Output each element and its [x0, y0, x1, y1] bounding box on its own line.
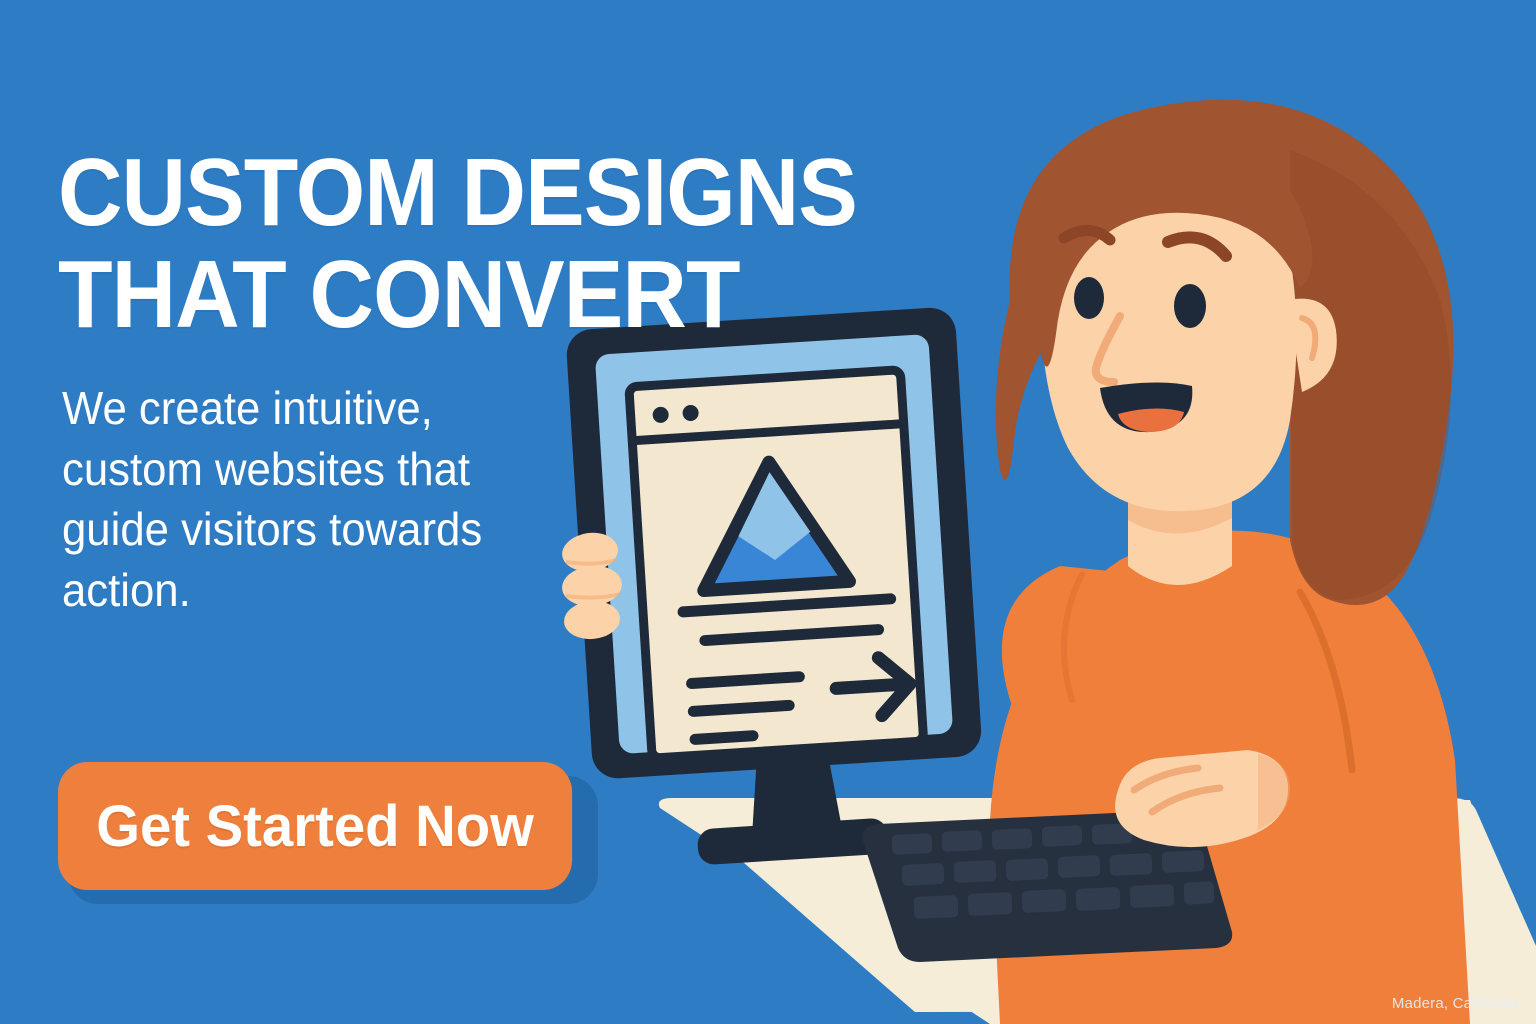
window-dot-2	[682, 405, 699, 422]
location-watermark: Madera, California	[1392, 995, 1518, 1012]
person-eyebrows	[1064, 230, 1226, 256]
person-hair-back	[996, 100, 1454, 605]
subheadline-text: We create intuitive, custom websites tha…	[62, 378, 509, 621]
person-hair-front	[1025, 142, 1312, 367]
cta-container: Get Started Now	[58, 762, 598, 902]
person-mouth	[1100, 382, 1192, 432]
desk-surface	[672, 800, 1536, 1012]
person-neck	[1128, 468, 1232, 585]
person-nose	[1096, 316, 1120, 382]
monitor	[565, 306, 988, 871]
person-typing-hand	[1115, 750, 1290, 847]
desk-slab	[659, 798, 1536, 1024]
keyboard	[862, 810, 1232, 962]
person-hand-holding-monitor	[560, 529, 624, 641]
person-body	[990, 531, 1470, 1024]
page-title: CUSTOM DESIGNS THAT CONVERT	[58, 142, 895, 346]
person-eyes	[1074, 277, 1206, 328]
arrow-right-icon	[834, 656, 911, 719]
window-dot-1	[652, 406, 669, 423]
get-started-button[interactable]: Get Started Now	[58, 762, 572, 890]
mountain-triangle-icon	[696, 458, 849, 591]
promo-banner: CUSTOM DESIGNS THAT CONVERT We create in…	[0, 0, 1536, 1024]
mock-text-lines	[683, 599, 899, 740]
person-face	[1040, 167, 1337, 511]
